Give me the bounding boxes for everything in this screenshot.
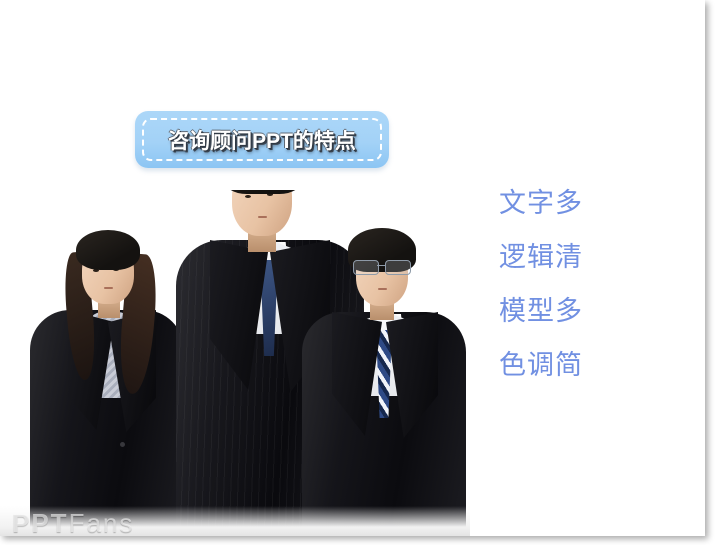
man-center-head [232, 190, 292, 236]
photo-floor-shadow [0, 506, 470, 536]
glasses-rim-right [385, 260, 411, 275]
person-woman [10, 226, 188, 536]
woman-mouth [104, 287, 113, 289]
slide-canvas: 咨询顾问PPT的特点 文字多 逻辑清 模型多 色调简 PPTFans [0, 0, 705, 536]
man-center-mouth [258, 216, 267, 218]
title-banner: 咨询顾问PPT的特点 [135, 111, 389, 168]
man-right-mouth [378, 288, 387, 290]
man-center-eye-left [245, 195, 251, 198]
keyword-item-3: 模型多 [499, 284, 619, 338]
woman-hair-top [76, 230, 140, 270]
glasses-rim-left [353, 260, 379, 275]
keyword-item-4: 色调简 [499, 338, 619, 392]
glasses-icon [352, 260, 412, 274]
woman-jacket-button [120, 442, 125, 447]
person-man-right [300, 220, 470, 536]
keyword-item-2: 逻辑清 [499, 230, 619, 284]
business-team-photo [0, 190, 470, 536]
page-title: 咨询顾问PPT的特点 [135, 111, 389, 168]
keyword-item-1: 文字多 [499, 176, 619, 230]
keyword-list: 文字多 逻辑清 模型多 色调简 [499, 176, 619, 392]
glasses-bridge [377, 265, 386, 266]
